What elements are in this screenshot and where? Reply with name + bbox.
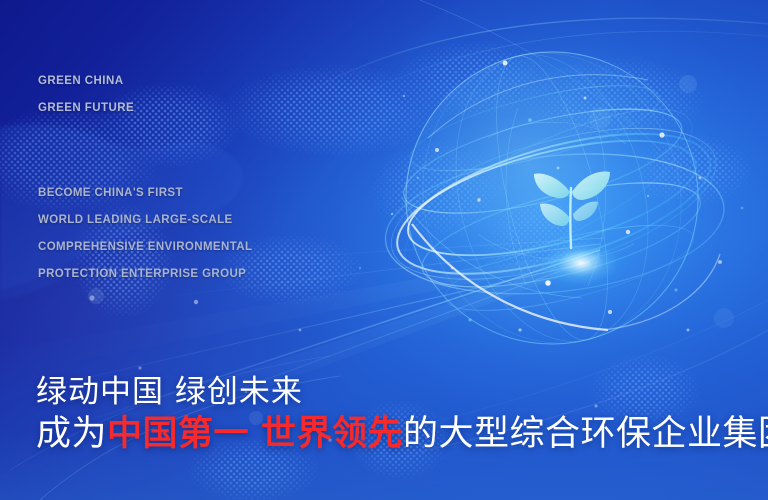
- headline-line-2: 成为中国第一世界领先的大型综合环保企业集团: [36, 405, 768, 456]
- mission-line-4: PROTECTION ENTERPRISE GROUP: [38, 268, 246, 280]
- mission-line-2: WORLD LEADING LARGE-SCALE: [38, 214, 233, 226]
- headline-suffix: 的大型综合环保企业集团: [403, 414, 768, 454]
- headline-accent-world-leading: 世界领先: [261, 414, 403, 454]
- tagline-line-2: GREEN FUTURE: [38, 102, 134, 114]
- headline-prefix: 成为: [36, 414, 107, 454]
- tagline-line-1: GREEN CHINA: [38, 75, 123, 87]
- mission-line-3: COMPREHENSIVE ENVIRONMENTAL: [38, 241, 252, 253]
- mission-line-1: BECOME CHINA'S FIRST: [38, 187, 183, 199]
- hero-banner: GREEN CHINA GREEN FUTURE BECOME CHINA'S …: [0, 0, 768, 500]
- headline-accent-china-first: 中国第一: [107, 414, 249, 454]
